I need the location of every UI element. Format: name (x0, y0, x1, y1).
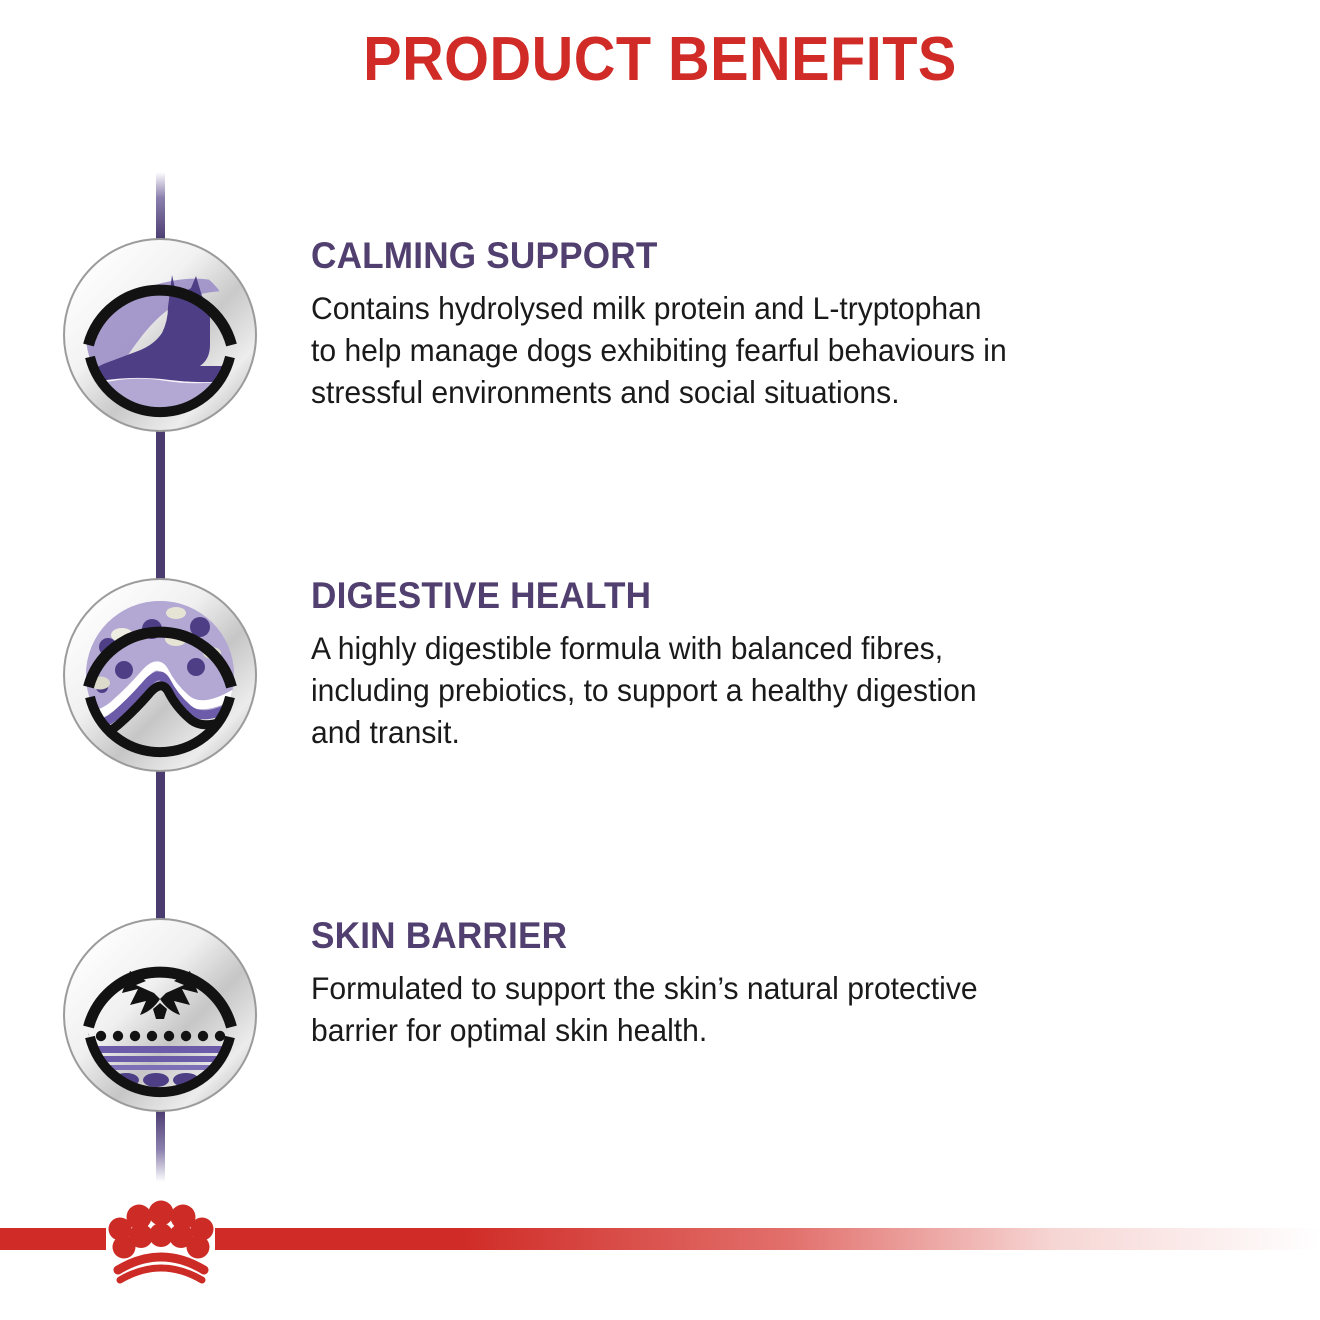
benefit-body-line: Contains hydrolysed milk protein and L-t… (311, 288, 1209, 330)
benefit-body-line: and transit. (311, 712, 1209, 754)
benefit-heading: DIGESTIVE HEALTH (311, 577, 1204, 616)
benefit-body-line: A highly digestible formula with balance… (311, 628, 1209, 670)
benefit-heading: SKIN BARRIER (311, 917, 1204, 956)
benefit-body-line: barrier for optimal skin health. (311, 1010, 1209, 1052)
benefit-body-line: to help manage dogs exhibiting fearful b… (311, 330, 1209, 372)
page-title: PRODUCT BENEFITS (46, 26, 1274, 94)
connector-rail-1 (156, 430, 165, 580)
footer (0, 1190, 1320, 1320)
benefit-text-calming-support: CALMING SUPPORT Contains hydrolysed milk… (311, 237, 1251, 414)
royal-canin-crown-logo (96, 1190, 226, 1290)
footer-bar-left (0, 1228, 106, 1250)
connector-rail-2 (156, 770, 165, 920)
digestive-health-icon (60, 575, 260, 775)
benefit-item-calming-support: CALMING SUPPORT Contains hydrolysed milk… (0, 235, 1320, 435)
benefit-body-line: stressful environments and social situat… (311, 372, 1209, 414)
benefit-heading: CALMING SUPPORT (311, 237, 1204, 276)
skin-barrier-icon (60, 915, 260, 1115)
benefit-body: Contains hydrolysed milk protein and L-t… (311, 288, 1209, 414)
benefit-item-digestive-health: DIGESTIVE HEALTH A highly digestible for… (0, 575, 1320, 775)
benefit-body: Formulated to support the skin’s natural… (311, 968, 1209, 1052)
benefit-body-line: Formulated to support the skin’s natural… (311, 968, 1209, 1010)
footer-bar-right (215, 1228, 1320, 1250)
connector-rail-top (156, 172, 165, 240)
benefit-item-skin-barrier: SKIN BARRIER Formulated to support the s… (0, 915, 1320, 1115)
calming-support-icon (60, 235, 260, 435)
benefit-text-skin-barrier: SKIN BARRIER Formulated to support the s… (311, 917, 1251, 1052)
benefit-body-line: including prebiotics, to support a healt… (311, 670, 1209, 712)
benefit-body: A highly digestible formula with balance… (311, 628, 1209, 754)
connector-rail-bottom (156, 1110, 165, 1182)
benefit-text-digestive-health: DIGESTIVE HEALTH A highly digestible for… (311, 577, 1251, 754)
